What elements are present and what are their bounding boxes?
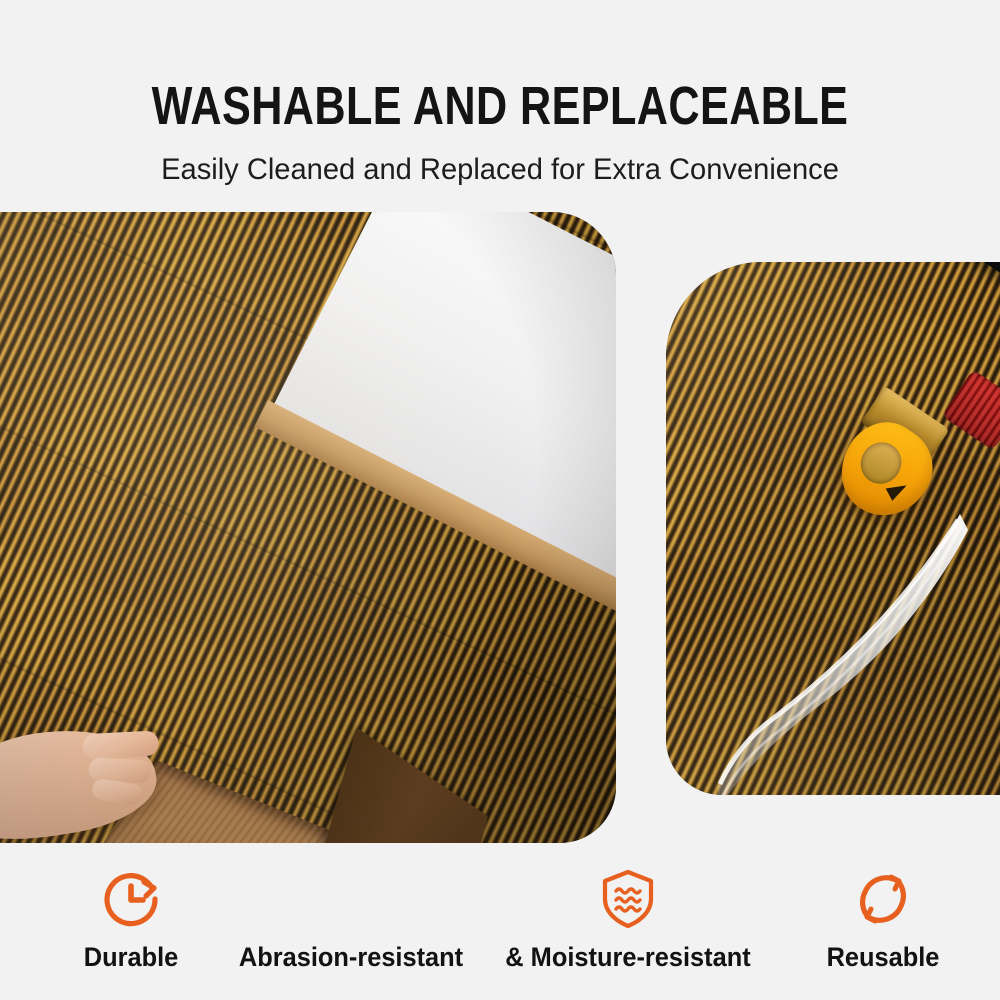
photo-panels <box>0 212 1000 852</box>
page-subtitle: Easily Cleaned and Replaced for Extra Co… <box>15 152 985 188</box>
carpet-grain <box>666 262 1000 795</box>
feature-moisture-resistant: & Moisture-resistant <box>478 866 778 973</box>
photo-vignette <box>0 212 616 843</box>
pressure-washing-photo <box>666 262 1000 795</box>
clock-arrow-icon <box>38 866 224 932</box>
feature-label: Abrasion-resistant <box>232 942 471 973</box>
feature-row: Durable Abrasion-resistant & Moisture-re… <box>0 852 1000 1000</box>
header-section: WASHABLE AND REPLACEABLE Easily Cleaned … <box>0 0 1000 212</box>
feature-abrasion-resistant: Abrasion-resistant <box>224 866 478 973</box>
feature-label: & Moisture-resistant <box>487 942 769 973</box>
product-feature-image: WASHABLE AND REPLACEABLE Easily Cleaned … <box>0 0 1000 1000</box>
carpet-tile-replacement-photo <box>0 212 616 843</box>
recycle-loop-icon <box>790 866 976 932</box>
page-title: WASHABLE AND REPLACEABLE <box>100 78 900 134</box>
shield-waves-icon <box>478 866 778 932</box>
feature-label: Durable <box>44 942 219 973</box>
feature-durable: Durable <box>38 866 224 973</box>
feature-reusable: Reusable <box>790 866 976 973</box>
feature-label: Reusable <box>796 942 971 973</box>
carpet-texture <box>666 262 1000 795</box>
nozzle-arrow-marking <box>886 479 910 501</box>
